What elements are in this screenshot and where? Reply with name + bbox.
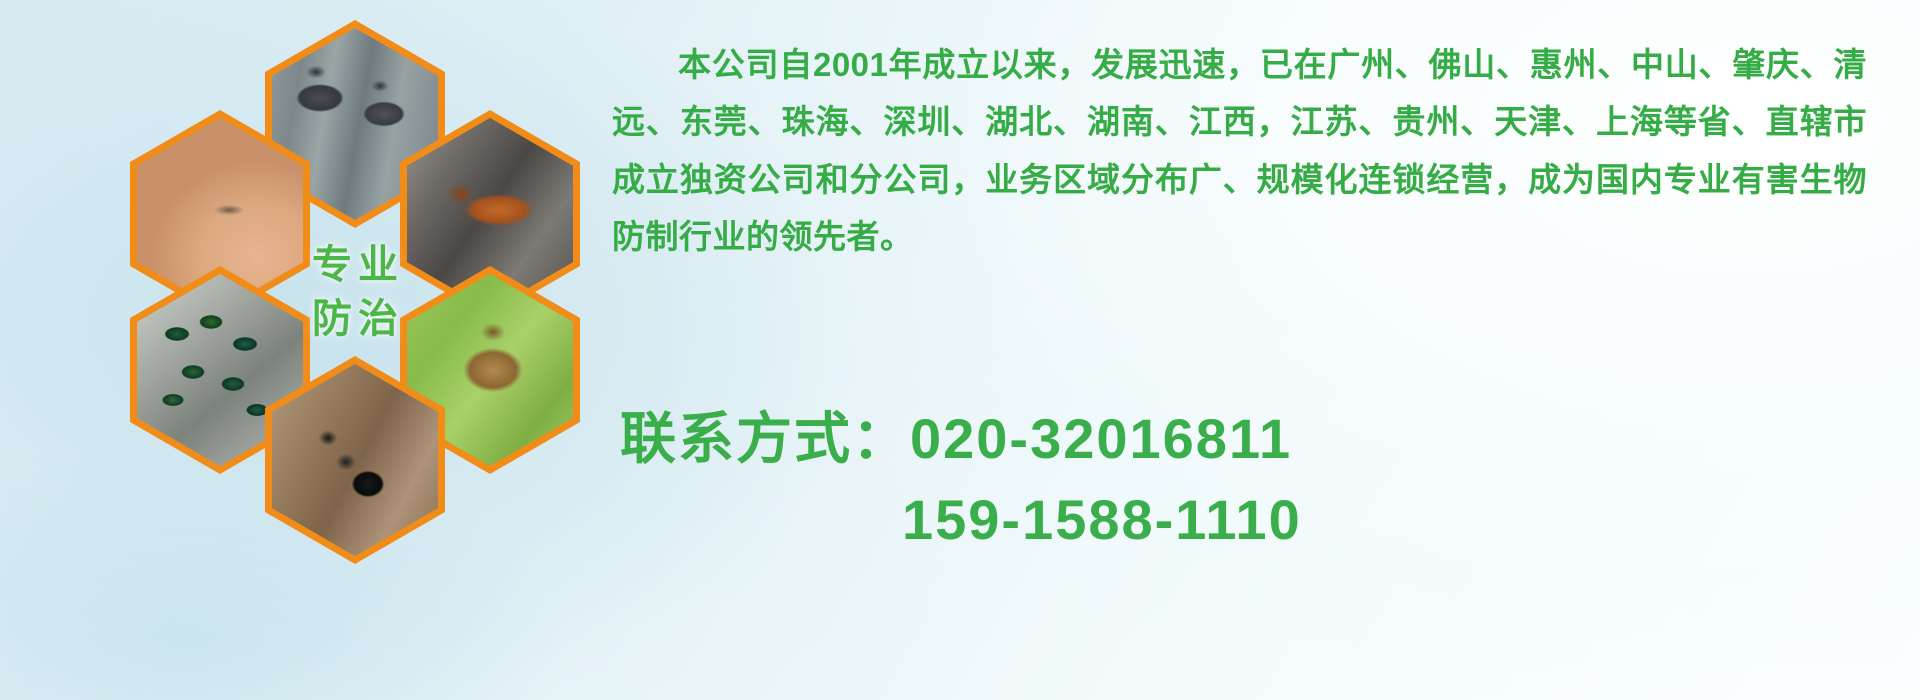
contact-label: 联系方式：	[620, 407, 910, 470]
company-intro: 本公司自2001年成立以来，发展迅速，已在广州、佛山、惠州、中山、肇庆、清远、东…	[612, 36, 1867, 266]
badge-line-2: 防治	[306, 292, 404, 346]
contact-mobile-row: 159-1588-1110	[620, 479, 1880, 560]
contact-landline-row: 联系方式：020-32016811	[620, 398, 1880, 479]
contact-block: 联系方式：020-32016811 159-1588-1110	[620, 398, 1880, 560]
badge-line-1: 专业	[306, 238, 404, 292]
ant-photo-image	[272, 364, 438, 556]
honeycomb-photo-cluster: 专业 防治	[70, 0, 630, 700]
ant-photo-frame	[272, 364, 438, 556]
company-intro-text: 本公司自2001年成立以来，发展迅速，已在广州、佛山、惠州、中山、肇庆、清远、东…	[612, 36, 1867, 266]
pest-control-banner: 专业 防治 本公司自2001年成立以来，发展迅速，已在广州、佛山、惠州、中山、肇…	[0, 0, 1920, 700]
contact-phone-landline[interactable]: 020-32016811	[910, 407, 1292, 470]
contact-phone-mobile[interactable]: 159-1588-1110	[902, 488, 1302, 551]
